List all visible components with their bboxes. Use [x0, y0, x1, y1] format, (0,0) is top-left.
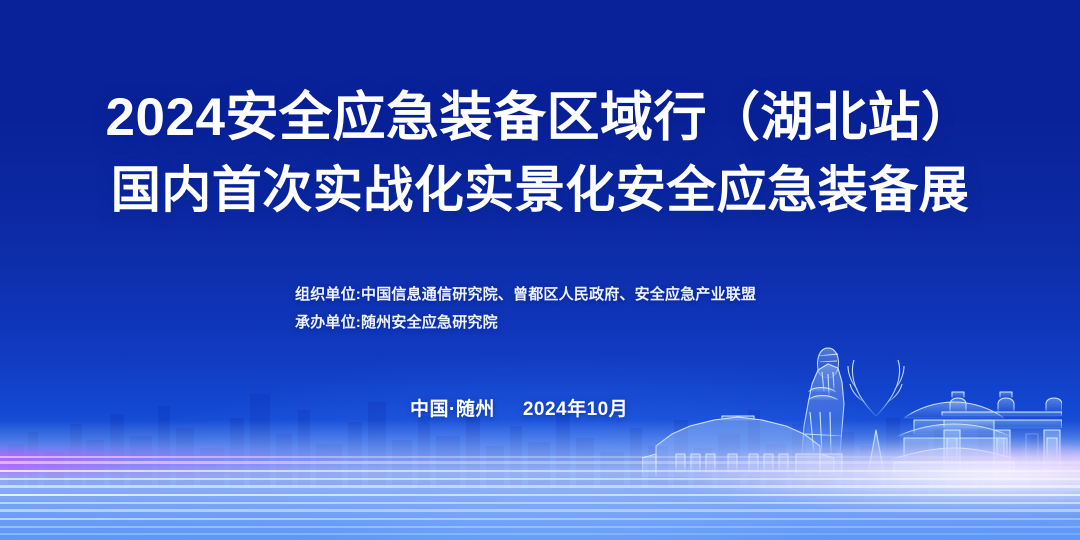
organizer-line: 组织单位:中国信息通信研究院、曾都区人民政府、安全应急产业联盟: [295, 281, 935, 309]
title-line-2: 国内首次实战化实景化安全应急装备展: [0, 154, 1080, 226]
event-date: 2024年10月: [523, 399, 628, 420]
host-line: 承办单位:随州安全应急研究院: [295, 309, 935, 337]
poster-content: 2024安全应急装备区域行（湖北站） 国内首次实战化实景化安全应急装备展 组织单…: [0, 0, 1080, 540]
poster-title: 2024安全应急装备区域行（湖北站） 国内首次实战化实景化安全应急装备展: [0, 82, 1080, 226]
event-poster: 2024安全应急装备区域行（湖北站） 国内首次实战化实景化安全应急装备展 组织单…: [0, 0, 1080, 540]
place-date-block: 中国·随州2024年10月: [410, 394, 628, 421]
title-line-1: 2024安全应急装备区域行（湖北站）: [0, 82, 1080, 154]
event-location: 中国·随州: [410, 399, 495, 420]
organizer-block: 组织单位:中国信息通信研究院、曾都区人民政府、安全应急产业联盟 承办单位:随州安…: [295, 281, 935, 337]
